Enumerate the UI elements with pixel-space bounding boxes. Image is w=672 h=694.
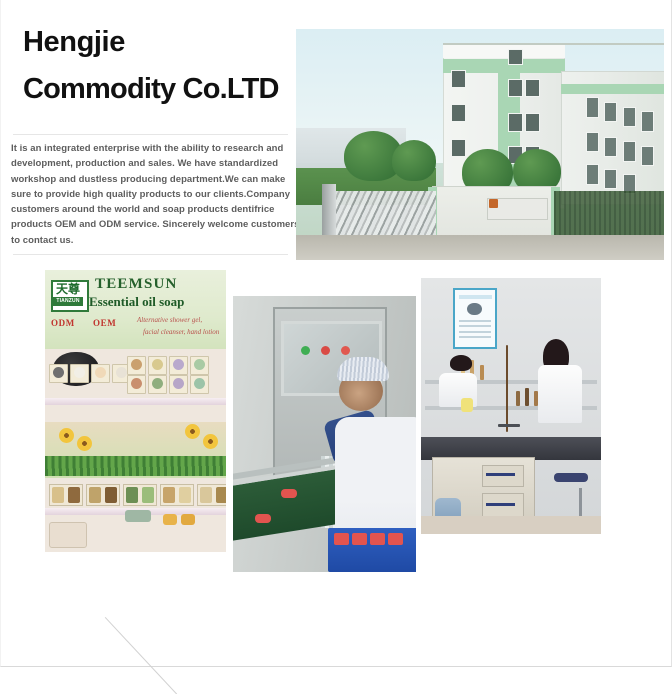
soap-tray	[49, 484, 83, 506]
soap-on-belt	[281, 489, 297, 498]
window	[605, 170, 616, 188]
brand-tagline: Essential oil soap	[89, 294, 184, 310]
soap-on-belt	[255, 514, 271, 523]
product-display-photo: 天尊 TIANZUN TEEMSUN Essential oil soap OD…	[45, 270, 226, 552]
window	[509, 80, 522, 96]
display-shelf	[45, 398, 226, 405]
soap-box	[127, 356, 146, 375]
divider-above-description	[13, 134, 288, 135]
company-name-line2: Commodity Co.LTD	[23, 69, 293, 109]
soap-box	[49, 364, 68, 383]
soap-box	[190, 375, 209, 394]
company-description: It is an integrated enterprise with the …	[11, 141, 301, 248]
lab-floor	[421, 516, 601, 534]
soap-tray	[86, 484, 120, 506]
window	[624, 108, 635, 126]
alt-use-line1: Alternative shower gel,	[137, 316, 202, 324]
sunflower-decoration	[203, 434, 218, 449]
divider-below-description	[13, 254, 288, 255]
poster-text-line	[459, 331, 491, 333]
reagent-bottle	[525, 388, 529, 406]
soap-box-row	[127, 356, 209, 375]
window	[509, 114, 522, 130]
factory-building-photo	[296, 29, 664, 260]
soap-tray	[123, 484, 157, 506]
window	[587, 98, 598, 116]
grass-decoration	[45, 456, 226, 476]
soap-box	[169, 375, 188, 394]
poster-text-line	[459, 320, 491, 322]
service-label-oem: OEM	[93, 318, 116, 328]
roof-line	[443, 43, 664, 45]
indicator-lamp-green	[301, 346, 310, 355]
window	[642, 147, 653, 165]
poster-text-line	[459, 336, 491, 338]
window	[605, 138, 616, 156]
signboard-logo-icon	[489, 199, 498, 208]
company-title-block: Hengjie Commodity Co.LTD	[23, 24, 293, 109]
service-label-odm: ODM	[51, 318, 75, 328]
soap-box-row	[49, 364, 131, 383]
company-name-line1: Hengjie	[23, 24, 293, 60]
window	[605, 103, 616, 121]
yellow-flask	[461, 398, 473, 412]
door-handle	[486, 503, 515, 506]
tree	[392, 140, 436, 182]
sunflower-decoration	[185, 424, 200, 439]
soap-box	[127, 375, 146, 394]
brand-pinyin-name: TIANZUN	[53, 297, 83, 306]
soap-box-foreground	[49, 522, 87, 548]
technician-right-coat	[538, 365, 582, 423]
alt-use-line2: facial cleanser, hand lotion	[143, 328, 219, 336]
window	[509, 50, 522, 64]
window	[452, 140, 465, 156]
soap-box	[169, 356, 188, 375]
window	[587, 133, 598, 151]
titration-stand	[506, 345, 508, 432]
soap-box	[190, 356, 209, 375]
window	[526, 80, 539, 96]
soap-cake	[181, 514, 195, 525]
reagent-bottle	[516, 391, 520, 406]
technician-left-head	[450, 355, 472, 371]
soap-tray-row	[49, 484, 226, 506]
soap-tray	[160, 484, 194, 506]
cabinet-drawer	[482, 465, 524, 487]
laboratory-photo	[421, 278, 601, 534]
drawer-handle	[486, 473, 515, 476]
brand-chinese-name: 天尊	[53, 281, 83, 297]
soap-box	[148, 356, 167, 375]
poster-header-bar	[459, 295, 492, 299]
decorative-diagonal-line	[161, 568, 241, 644]
blue-product-crate	[328, 528, 416, 572]
window	[624, 142, 635, 160]
lab-stool-seat	[554, 473, 588, 482]
soap-box	[91, 364, 110, 383]
reagent-bottle	[480, 365, 484, 380]
window	[526, 114, 539, 130]
soap-tray	[197, 484, 226, 506]
worker-hairnet-cap	[337, 357, 389, 381]
indicator-lamp-red	[341, 346, 350, 355]
sunflower-decoration	[77, 436, 92, 451]
poster-text-line	[459, 325, 491, 327]
indicator-lamp-red	[321, 346, 330, 355]
sunflower-decoration	[59, 428, 74, 443]
stand-base	[498, 424, 520, 427]
company-profile-page: Hengjie Commodity Co.LTD It is an integr…	[0, 0, 672, 667]
soap-box	[70, 364, 89, 383]
perimeter-fence	[554, 191, 664, 237]
production-machine-photo	[233, 296, 416, 572]
soap-box-row	[127, 375, 209, 394]
soap-box	[148, 375, 167, 394]
poster-portrait-icon	[467, 303, 481, 315]
soap-plate	[125, 510, 151, 522]
soap-cake	[163, 514, 177, 525]
driveway-ground	[296, 235, 664, 260]
wall-poster	[453, 288, 497, 348]
window	[452, 105, 465, 121]
green-band-right	[561, 84, 664, 93]
window	[587, 165, 598, 183]
window	[642, 112, 653, 130]
brand-name: TEEMSUN	[95, 276, 178, 293]
window	[452, 71, 465, 87]
